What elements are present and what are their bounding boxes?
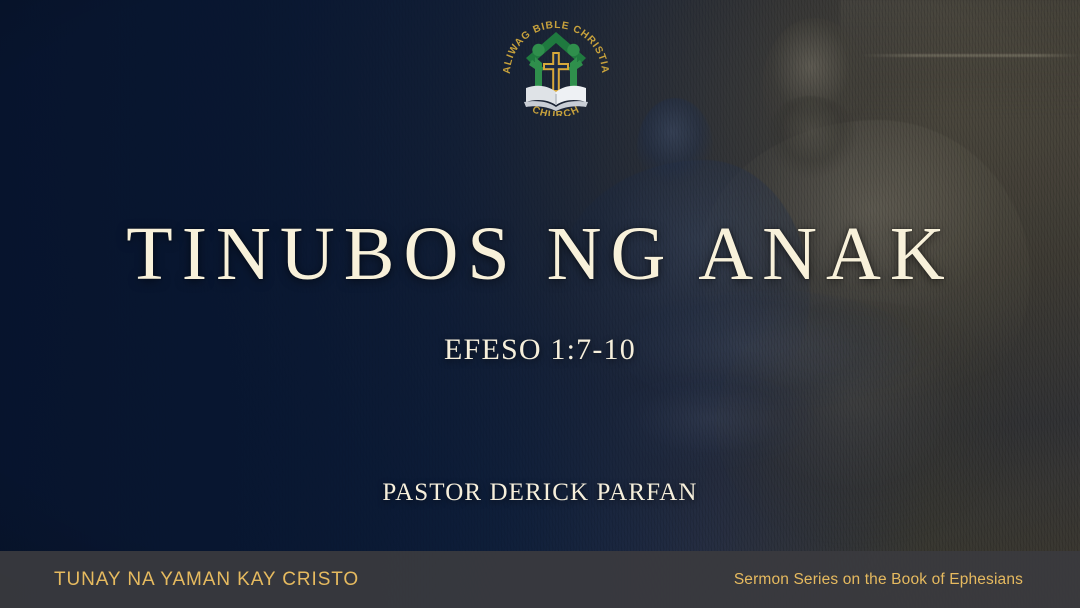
footer-bar: TUNAY NA YAMAN KAY CRISTO Sermon Series …: [0, 551, 1080, 608]
sermon-title-slide: BALIWAG BIBLE CHRISTIAN CHURCH: [0, 0, 1080, 608]
church-logo: BALIWAG BIBLE CHRISTIAN CHURCH: [494, 8, 618, 116]
verse-reference: EFESO 1:7-10: [0, 333, 1080, 367]
page-title: TINUBOS NG ANAK: [0, 216, 1080, 292]
series-subtitle: Sermon Series on the Book of Ephesians: [734, 571, 1023, 589]
series-title: TUNAY NA YAMAN KAY CRISTO: [54, 569, 359, 591]
logo-cross-icon: [543, 52, 569, 92]
speaker-name: PASTOR DERICK PARFAN: [0, 479, 1080, 507]
